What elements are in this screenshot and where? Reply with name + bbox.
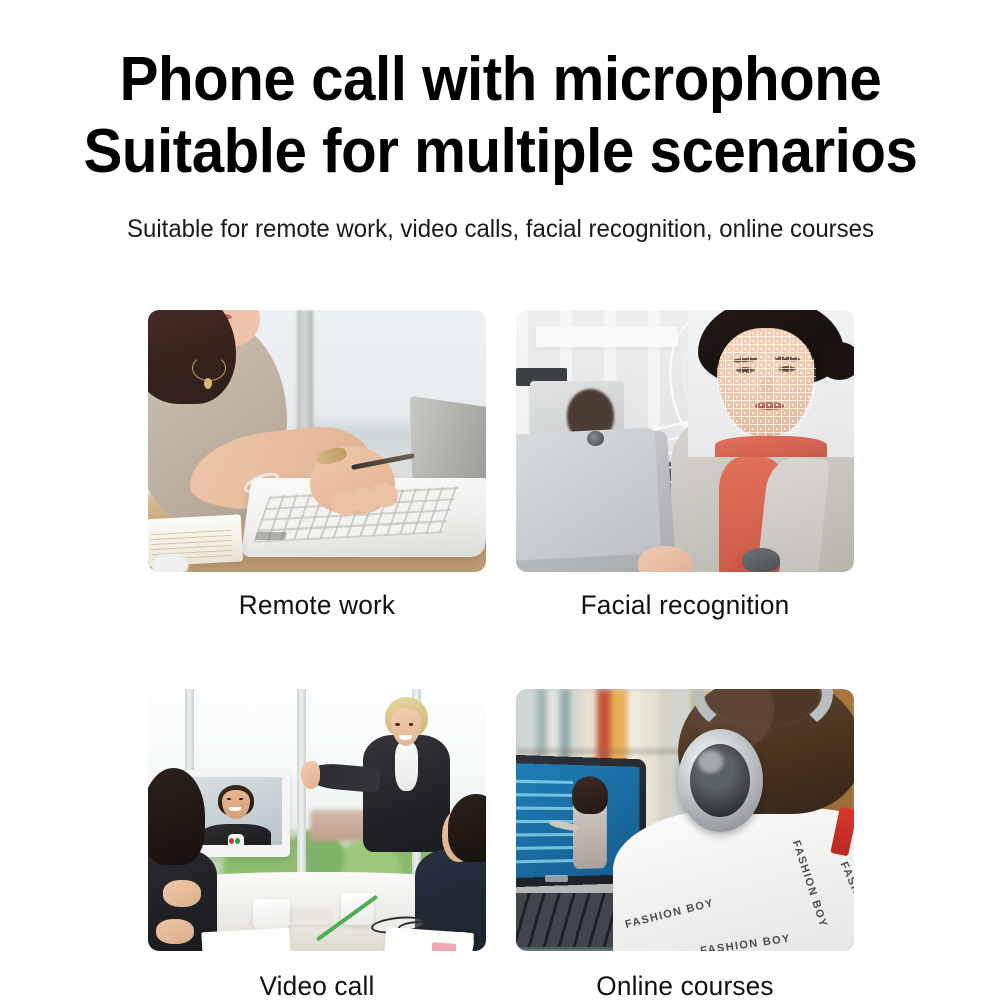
hoodie-print-line: FASHION BOY <box>624 898 715 932</box>
woman-hair <box>148 310 236 404</box>
woman-hand <box>638 546 692 572</box>
necklace-chain <box>192 355 226 381</box>
photo-online-courses: FASHION BOY FASHION BOY FASHION BOY FASH… <box>516 689 854 951</box>
face-mesh-nodes <box>717 329 816 441</box>
hoodie-print-line: FASHION BOY <box>786 948 854 951</box>
paper-sheet <box>201 928 290 951</box>
window-post <box>297 689 306 893</box>
headline-line-1: Phone call with microphone <box>30 44 971 116</box>
necklace-pendant <box>204 378 212 389</box>
seated-colleague-left <box>148 768 222 951</box>
face-closeup-inset <box>688 310 854 457</box>
colleague-right-hair <box>448 794 486 862</box>
caption-video-call: Video call <box>153 971 481 1001</box>
photo-video-call <box>148 689 486 951</box>
scenario-card-remote-work: Remote work <box>148 310 486 621</box>
cup-blur <box>151 554 188 572</box>
remote-participant-eye <box>227 798 232 800</box>
hoodie-print-line: FASHION BOY <box>699 933 791 951</box>
caption-facial-recognition: Facial recognition <box>521 590 849 621</box>
laptop-camera <box>587 431 604 447</box>
student-boy: FASHION BOY FASHION BOY FASHION BOY FASH… <box>638 689 854 951</box>
headline-line-2: Suitable for multiple scenarios <box>30 116 971 188</box>
hoodie-print-text: FASHION BOY FASHION BOY FASHION BOY FASH… <box>613 820 854 951</box>
remote-participant-eye <box>239 798 244 800</box>
screen-whiteboard-text <box>516 777 573 864</box>
coffee-mug <box>253 899 290 930</box>
caption-remote-work: Remote work <box>153 590 481 621</box>
headphone-highlight <box>698 750 723 773</box>
presenter-hand <box>301 761 321 789</box>
remote-participant-face <box>222 790 249 819</box>
pink-sticky-note <box>432 942 456 951</box>
photo-facial-recognition <box>516 310 854 572</box>
hoodie-print-line: FASHION BOY <box>837 860 854 948</box>
scenario-grid: Remote work <box>148 310 856 1001</box>
laptop-ports <box>255 532 288 540</box>
colleague-left-hands <box>156 919 195 944</box>
scenario-card-online-courses: FASHION BOY FASHION BOY FASHION BOY FASH… <box>516 689 854 1001</box>
computer-mouse <box>742 548 779 572</box>
scenario-card-facial-recognition: Facial recognition <box>516 310 854 621</box>
colleague-left-hands <box>163 880 202 907</box>
scenario-card-video-call: Video call <box>148 689 486 1001</box>
presenter-white-top <box>395 742 419 791</box>
hoodie-print-line: FASHION BOY <box>789 839 829 929</box>
header: Phone call with microphone Suitable for … <box>0 0 1001 244</box>
remote-participant-smile <box>229 807 241 810</box>
wall-shelf <box>536 326 678 347</box>
laptop-brand-logo <box>545 875 568 882</box>
laptop-lid <box>516 427 661 560</box>
photo-remote-work <box>148 310 486 572</box>
caption-online-courses: Online courses <box>521 971 849 1001</box>
subtitle: Suitable for remote work, video calls, f… <box>20 214 981 244</box>
colleague-left-hair <box>148 768 205 865</box>
screen-teacher-hair <box>571 776 608 814</box>
inset-collar <box>715 436 828 457</box>
product-infographic-page: Phone call with microphone Suitable for … <box>0 0 1001 1001</box>
remote-participant-pin <box>235 838 240 844</box>
